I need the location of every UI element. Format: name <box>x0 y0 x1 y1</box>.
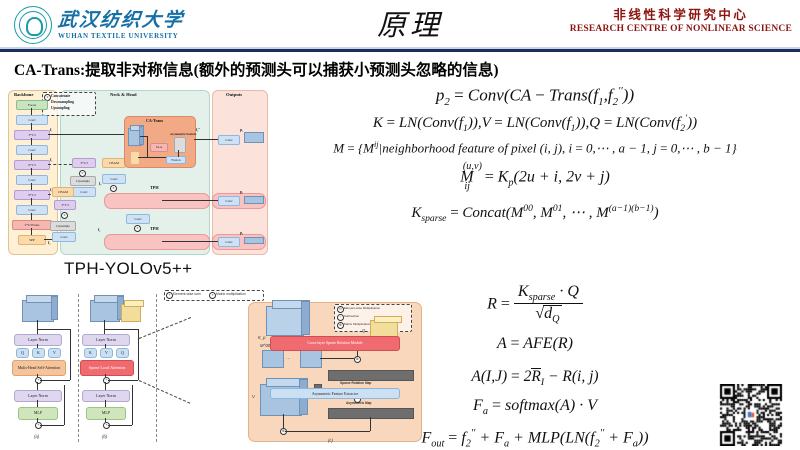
tph-label-2: TPH <box>150 226 159 231</box>
university-logo-text: 武汉纺织大学 WUHAN TEXTILE UNIVERSITY <box>58 11 184 40</box>
panel-b-k: K <box>84 348 97 358</box>
flow-label-f6: f₆ <box>98 228 100 232</box>
panel-a-wire-2 <box>37 344 38 348</box>
panel-c-inner-label-1: Element-wise Multiplication <box>344 306 380 310</box>
neck-block-cbam-a: CBAM <box>102 158 126 168</box>
page-title: 原理 <box>330 2 490 44</box>
tph-panel-2 <box>104 234 210 250</box>
panel-c-wire-1 <box>320 358 354 359</box>
equation-m-uv: Mij(u,v) = Kp(2u + i, 2v + j) <box>270 168 800 189</box>
panel-a-wire-4 <box>37 382 38 390</box>
ca-trans-input-cube <box>130 151 140 165</box>
neck-block-upsample-b: Upsample <box>50 221 76 231</box>
panel-c-label-m00: M^00 <box>260 343 270 348</box>
panel-b-zoom-line-2 <box>139 380 191 404</box>
panel-b-wire-2 <box>105 344 106 348</box>
panel-a-residual-1h2 <box>40 380 70 381</box>
panel-b-wire-6 <box>105 418 106 422</box>
backbone-connector-9 <box>31 228 32 235</box>
flow-label-f5: f₅ <box>99 182 101 186</box>
university-seal-icon <box>14 6 52 44</box>
centre-name-cn: 非线性科学研究中心 <box>570 8 792 24</box>
backbone-panel-title: Backbone <box>14 92 33 97</box>
equation-k-sparse: Ksparse = Concat(M00, M01, ⋯ , M(a−1)(b−… <box>270 204 800 224</box>
tph-label-1: TPH <box>150 185 159 190</box>
backbone-connector-7 <box>31 198 32 205</box>
neck-block-cbam-b: CBAM <box>52 187 74 197</box>
panel-c-cross-layer-sparse-relation-module: Cross-layer Sparse Relation Module <box>270 336 400 351</box>
element-wise-multiplication-icon: ⊙ <box>337 306 344 313</box>
panel-b-sum-node-2: + <box>103 422 110 429</box>
backbone-connector-6 <box>31 183 32 190</box>
ca-trans-wire-3 <box>140 136 148 137</box>
output-tensor-2 <box>244 196 264 204</box>
panel-a-layer-norm-1: Layer Norm <box>14 334 62 346</box>
legend-label-downsampling: Downsampling <box>51 100 74 104</box>
backbone-block-c3-1: 3*C3 <box>14 130 50 140</box>
panel-b-wire-4 <box>105 382 106 390</box>
subtraction-icon: − <box>337 314 344 321</box>
skip-connection-f1 <box>48 134 124 135</box>
panel-a-residual-2 <box>64 385 65 425</box>
output-wire-2 <box>162 200 218 201</box>
equation-fa: Fa = softmax(A) · V <box>400 398 670 417</box>
panel-b-layer-norm-2: Layer Norm <box>82 390 130 402</box>
output-block-conv-2: Conv <box>218 196 240 206</box>
panel-c-matmul-node-1: ⊗ <box>354 356 361 363</box>
panel-c-m00-cube <box>262 350 284 368</box>
panel-b-q: Q <box>116 348 129 358</box>
neck-block-c3-b: 3*C3 <box>54 200 76 210</box>
backbone-block-spp: SPP <box>18 235 46 245</box>
panel-a-wire-1 <box>37 320 38 334</box>
ca-trans-fusion-block: Fusion <box>166 156 186 164</box>
panel-divider-1 <box>78 294 79 442</box>
panel-b-input-cube <box>90 300 120 322</box>
university-name-en: WUHAN TEXTILE UNIVERSITY <box>58 33 184 40</box>
panel-a-k: K <box>32 348 45 358</box>
panel-b-aux-cube-top <box>124 300 144 307</box>
university-logo: 武汉纺织大学 WUHAN TEXTILE UNIVERSITY <box>14 6 184 44</box>
concat-node-3: c <box>110 185 117 192</box>
panel-b-wire-5 <box>105 400 106 407</box>
backbone-block-conv-1: Conv <box>16 115 48 125</box>
ca-trans-asym-cube <box>174 137 186 153</box>
panel-c-wire-4 <box>285 431 370 432</box>
flow-label-f2: f₂ <box>50 158 52 162</box>
ca-trans-wire-4 <box>178 150 179 157</box>
research-centre-branding: 非线性科学研究中心 RESEARCH CENTRE OF NONLINEAR S… <box>570 8 792 36</box>
panel-c-inner-label-2: Subtraction <box>344 314 359 318</box>
panel-b-residual-1h <box>105 329 138 330</box>
backbone-block-c3trans: 3*C3Trans <box>12 220 52 230</box>
flow-label-f4: f₄ <box>48 241 50 245</box>
output-tensor-3 <box>244 237 264 244</box>
output-wire-1 <box>194 139 218 140</box>
flow-label-f2pp: f₂″ <box>196 128 200 132</box>
centre-name-en: RESEARCH CENTRE OF NONLINEAR SCIENCE <box>570 24 792 36</box>
panel-a-wire-6 <box>37 418 38 422</box>
flow-label-p1: p₁ <box>240 128 243 132</box>
panel-a-residual-1h <box>37 329 70 330</box>
flow-label-f1: f₁ <box>50 128 52 132</box>
backbone-connector-3 <box>31 138 32 145</box>
backbone-block-c3-3: 9*C3 <box>14 190 50 200</box>
panel-a-residual-2h <box>40 425 64 426</box>
panel-b-wire-3 <box>105 374 106 377</box>
panel-c-kp-cube-side <box>301 301 310 335</box>
panel-b-residual-2h <box>108 425 132 426</box>
panel-a-input-cube <box>22 300 54 322</box>
neck-block-upsample-a: Upsample <box>70 176 96 186</box>
panel-c-asymmetric-map <box>328 408 414 419</box>
panel-c-ellipsis: ⋯ <box>286 356 290 361</box>
tph-panel-1 <box>104 193 210 209</box>
panel-c-label-sparse-relation-map: Sparse Relation Map <box>340 381 371 385</box>
panel-b-wire-1 <box>104 320 105 334</box>
panel-divider-2 <box>156 294 157 442</box>
backbone-connector-1 <box>31 108 32 115</box>
equation-a-afe: A = AFE(R) <box>400 336 670 352</box>
panel-a-sum-node-2: + <box>35 422 42 429</box>
output-block-conv-1: Conv <box>218 135 240 145</box>
neck-block-conv-d: Conv <box>126 214 150 224</box>
panel-a-wire-5 <box>37 400 38 407</box>
equation-a-ij: A(I,J) = 2RI − R(i, j) <box>400 368 670 388</box>
backbone-block-focus: Focus <box>16 100 48 110</box>
equation-kvq: K = LN(Conv(f1)),V = LN(Conv(f1)),Q = LN… <box>270 114 800 134</box>
panel-c-label-q: Q <box>362 328 365 333</box>
architecture-diagram: Backbone Neck & Head Outputs c Concatena… <box>6 88 268 258</box>
panel-c-label-v: V <box>252 394 255 399</box>
panel-a-caption: (a) <box>34 434 39 439</box>
equation-m-set: M = {Mij|neighborhood feature of pixel (… <box>270 141 800 154</box>
concat-node-4: c <box>134 225 141 232</box>
flow-label-p2: p₂ <box>240 190 243 194</box>
panel-b-caption: (b) <box>102 434 107 439</box>
legend-label-concatenate: Concatenate <box>51 94 70 98</box>
output-block-conv-3: Conv <box>218 237 240 247</box>
panel-c-caption: (c) <box>328 438 333 443</box>
outputs-panel-title: Outputs <box>226 92 242 97</box>
output-tensor-1 <box>244 132 264 143</box>
matrix-multiplication-icon: × <box>209 292 216 299</box>
output-wire-3 <box>162 241 218 242</box>
neck-block-c3-a: 3*C3 <box>72 158 96 168</box>
equation-r: R = Ksparse · Q √dQ <box>400 284 670 326</box>
matrix-multiplication-icon-2: ⊗ <box>337 322 344 329</box>
backbone-block-conv-2: Conv <box>16 145 48 155</box>
panel-c-legend-label-matmul: Matrix multiplication <box>216 292 246 296</box>
panel-c-q-cube-top <box>374 316 402 323</box>
ca-trans-title: CA-Trans <box>146 118 163 123</box>
backbone-block-conv-4: Conv <box>16 205 48 215</box>
panel-c-asymmetric-feature-extractor: Asymmetric Feature Extractor <box>270 388 400 399</box>
neck-block-conv-b: Conv <box>72 187 96 197</box>
panel-a-layer-norm-2: Layer Norm <box>14 390 62 402</box>
panel-b-residual-2 <box>132 385 133 425</box>
skip-connection-f2 <box>48 164 72 165</box>
neck-head-panel-title: Neck & Head <box>110 92 137 97</box>
backbone-connector-5 <box>31 168 32 175</box>
panel-a-residual-1 <box>70 329 71 380</box>
neck-block-conv-a: Conv <box>102 174 126 184</box>
panel-c-sparse-relation-map <box>328 370 414 381</box>
panel-b-mlp: MLP <box>86 407 126 420</box>
panel-a-mlp: MLP <box>18 407 58 420</box>
panel-c-inner-label-3: Matrix Multiplication <box>344 322 370 326</box>
panel-a-multi-head-self-attention: Multi-Head Self-Attention <box>12 360 66 376</box>
neck-block-conv-c: Conv <box>52 232 76 242</box>
panel-c-legend-label-sum: Element-wise sum <box>173 292 201 296</box>
qr-code[interactable] <box>718 384 784 446</box>
ca-trans-asym-label: Asymmetric Feature <box>170 132 196 136</box>
panel-a-v: V <box>48 348 61 358</box>
slide-header: 武汉纺织大学 WUHAN TEXTILE UNIVERSITY 原理 非线性科学… <box>0 0 800 50</box>
panel-b-sparse-local-attention: Sparse Local Attention <box>80 360 134 376</box>
panel-b-v: V <box>100 348 113 358</box>
flow-label-p3: p₃ <box>240 231 243 235</box>
panel-b-layer-norm-1: Layer Norm <box>82 334 130 346</box>
panel-c-kp-cube <box>266 306 304 336</box>
panel-a-q: Q <box>16 348 29 358</box>
ca-trans-wire-2 <box>147 136 148 158</box>
section-heading: CA-Trans:提取非对称信息(额外的预测头可以捕获小预测头忽略的信息) <box>14 58 784 80</box>
element-wise-sum-icon: + <box>166 292 173 299</box>
backbone-block-conv-3: Conv <box>16 175 48 185</box>
legend-label-upsampling: Upsampling <box>51 106 70 110</box>
architecture-caption: TPH-YOLOv5++ <box>64 259 192 279</box>
panel-b-zoom-line-1 <box>139 317 191 339</box>
header-rule <box>0 49 800 52</box>
university-name-cn: 武汉纺织大学 <box>57 11 185 30</box>
backbone-connector-2 <box>31 123 32 130</box>
panel-b-residual-1 <box>138 329 139 380</box>
equation-p2: p2 = Conv(CA − Trans(f1,f2′′)) <box>270 86 800 108</box>
backbone-connector-4 <box>31 153 32 160</box>
panel-a-wire-3 <box>37 374 38 377</box>
panel-c-matmul-node-2: ⊗ <box>280 428 287 435</box>
backbone-connector-8 <box>31 213 32 220</box>
panel-c-mab-cube <box>300 350 322 368</box>
panel-a-input-cube-side <box>51 296 58 320</box>
ca-trans-sla-block: SLA <box>150 143 168 152</box>
panel-c-wire-5 <box>370 417 371 431</box>
panel-c-label-kp: K_p <box>258 335 265 340</box>
panel-c-label-asymmetric-map: Asymmetric Map <box>346 401 372 405</box>
ca-trans-wire-1 <box>138 157 166 158</box>
panel-b-residual-1h2 <box>108 380 138 381</box>
backbone-block-c3-2: 6*C3 <box>14 160 50 170</box>
concat-node-2: c <box>61 212 68 219</box>
panel-c-wire-3 <box>283 414 284 428</box>
concat-node-1: c <box>79 170 86 177</box>
attention-module-diagram: Layer Norm Q K V Multi-Head Self-Attenti… <box>4 288 424 448</box>
